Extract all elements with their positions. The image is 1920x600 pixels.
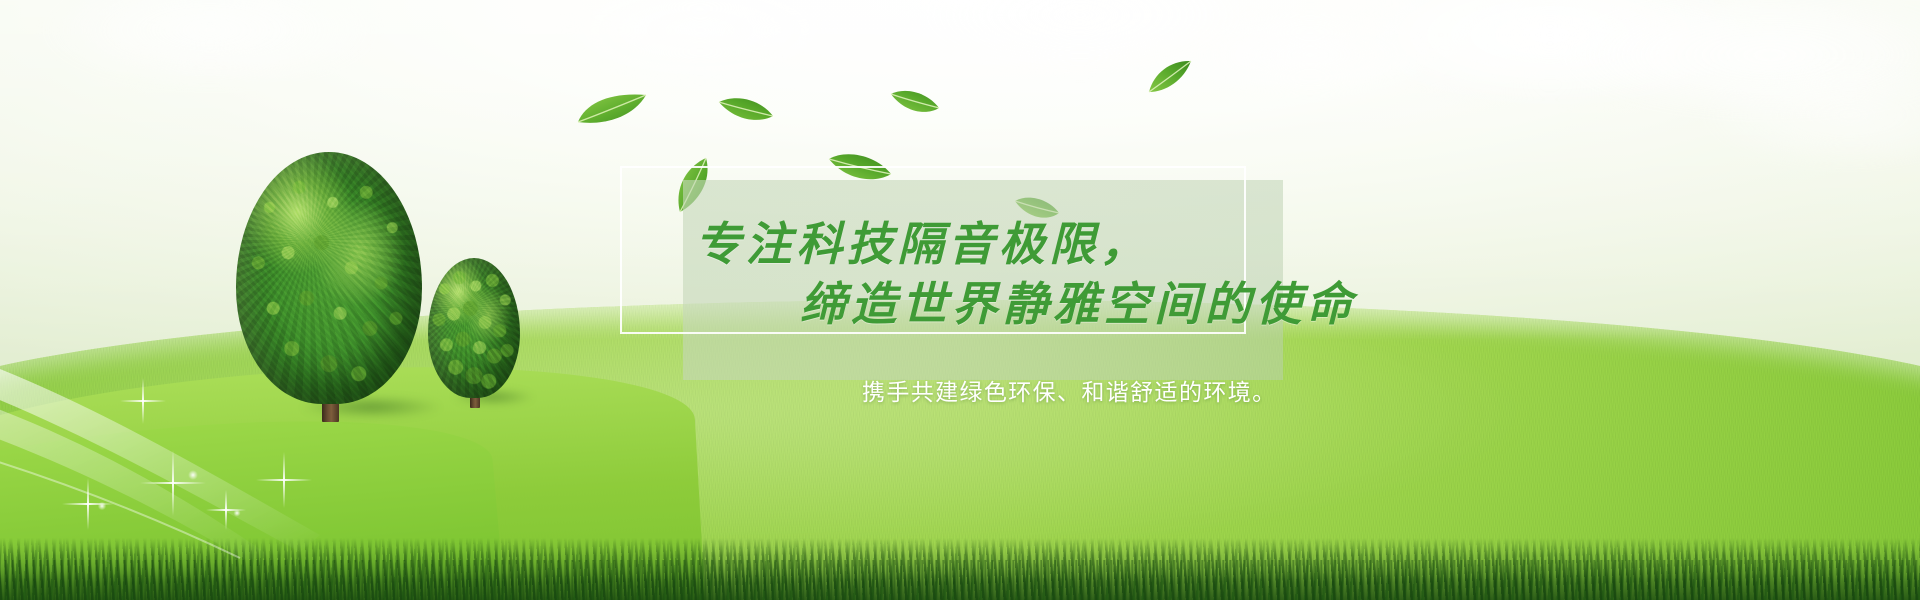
headline-line-2: 缔造世界静雅空间的使命 [800,268,1357,334]
small-tree [428,258,520,398]
eco-hero-banner: 专注科技隔音极限， 缔造世界静雅空间的使命 携手共建绿色环保、和谐舒适的环境。 [0,0,1920,600]
large-tree [236,152,422,404]
grass-blade-tips [0,560,1920,600]
small-tree-foliage-detail [428,258,520,398]
banner-subtitle: 携手共建绿色环保、和谐舒适的环境。 [862,373,1276,407]
large-tree-foliage-detail [236,152,422,404]
headline-line-1: 专注科技隔音极限， [695,208,1150,274]
